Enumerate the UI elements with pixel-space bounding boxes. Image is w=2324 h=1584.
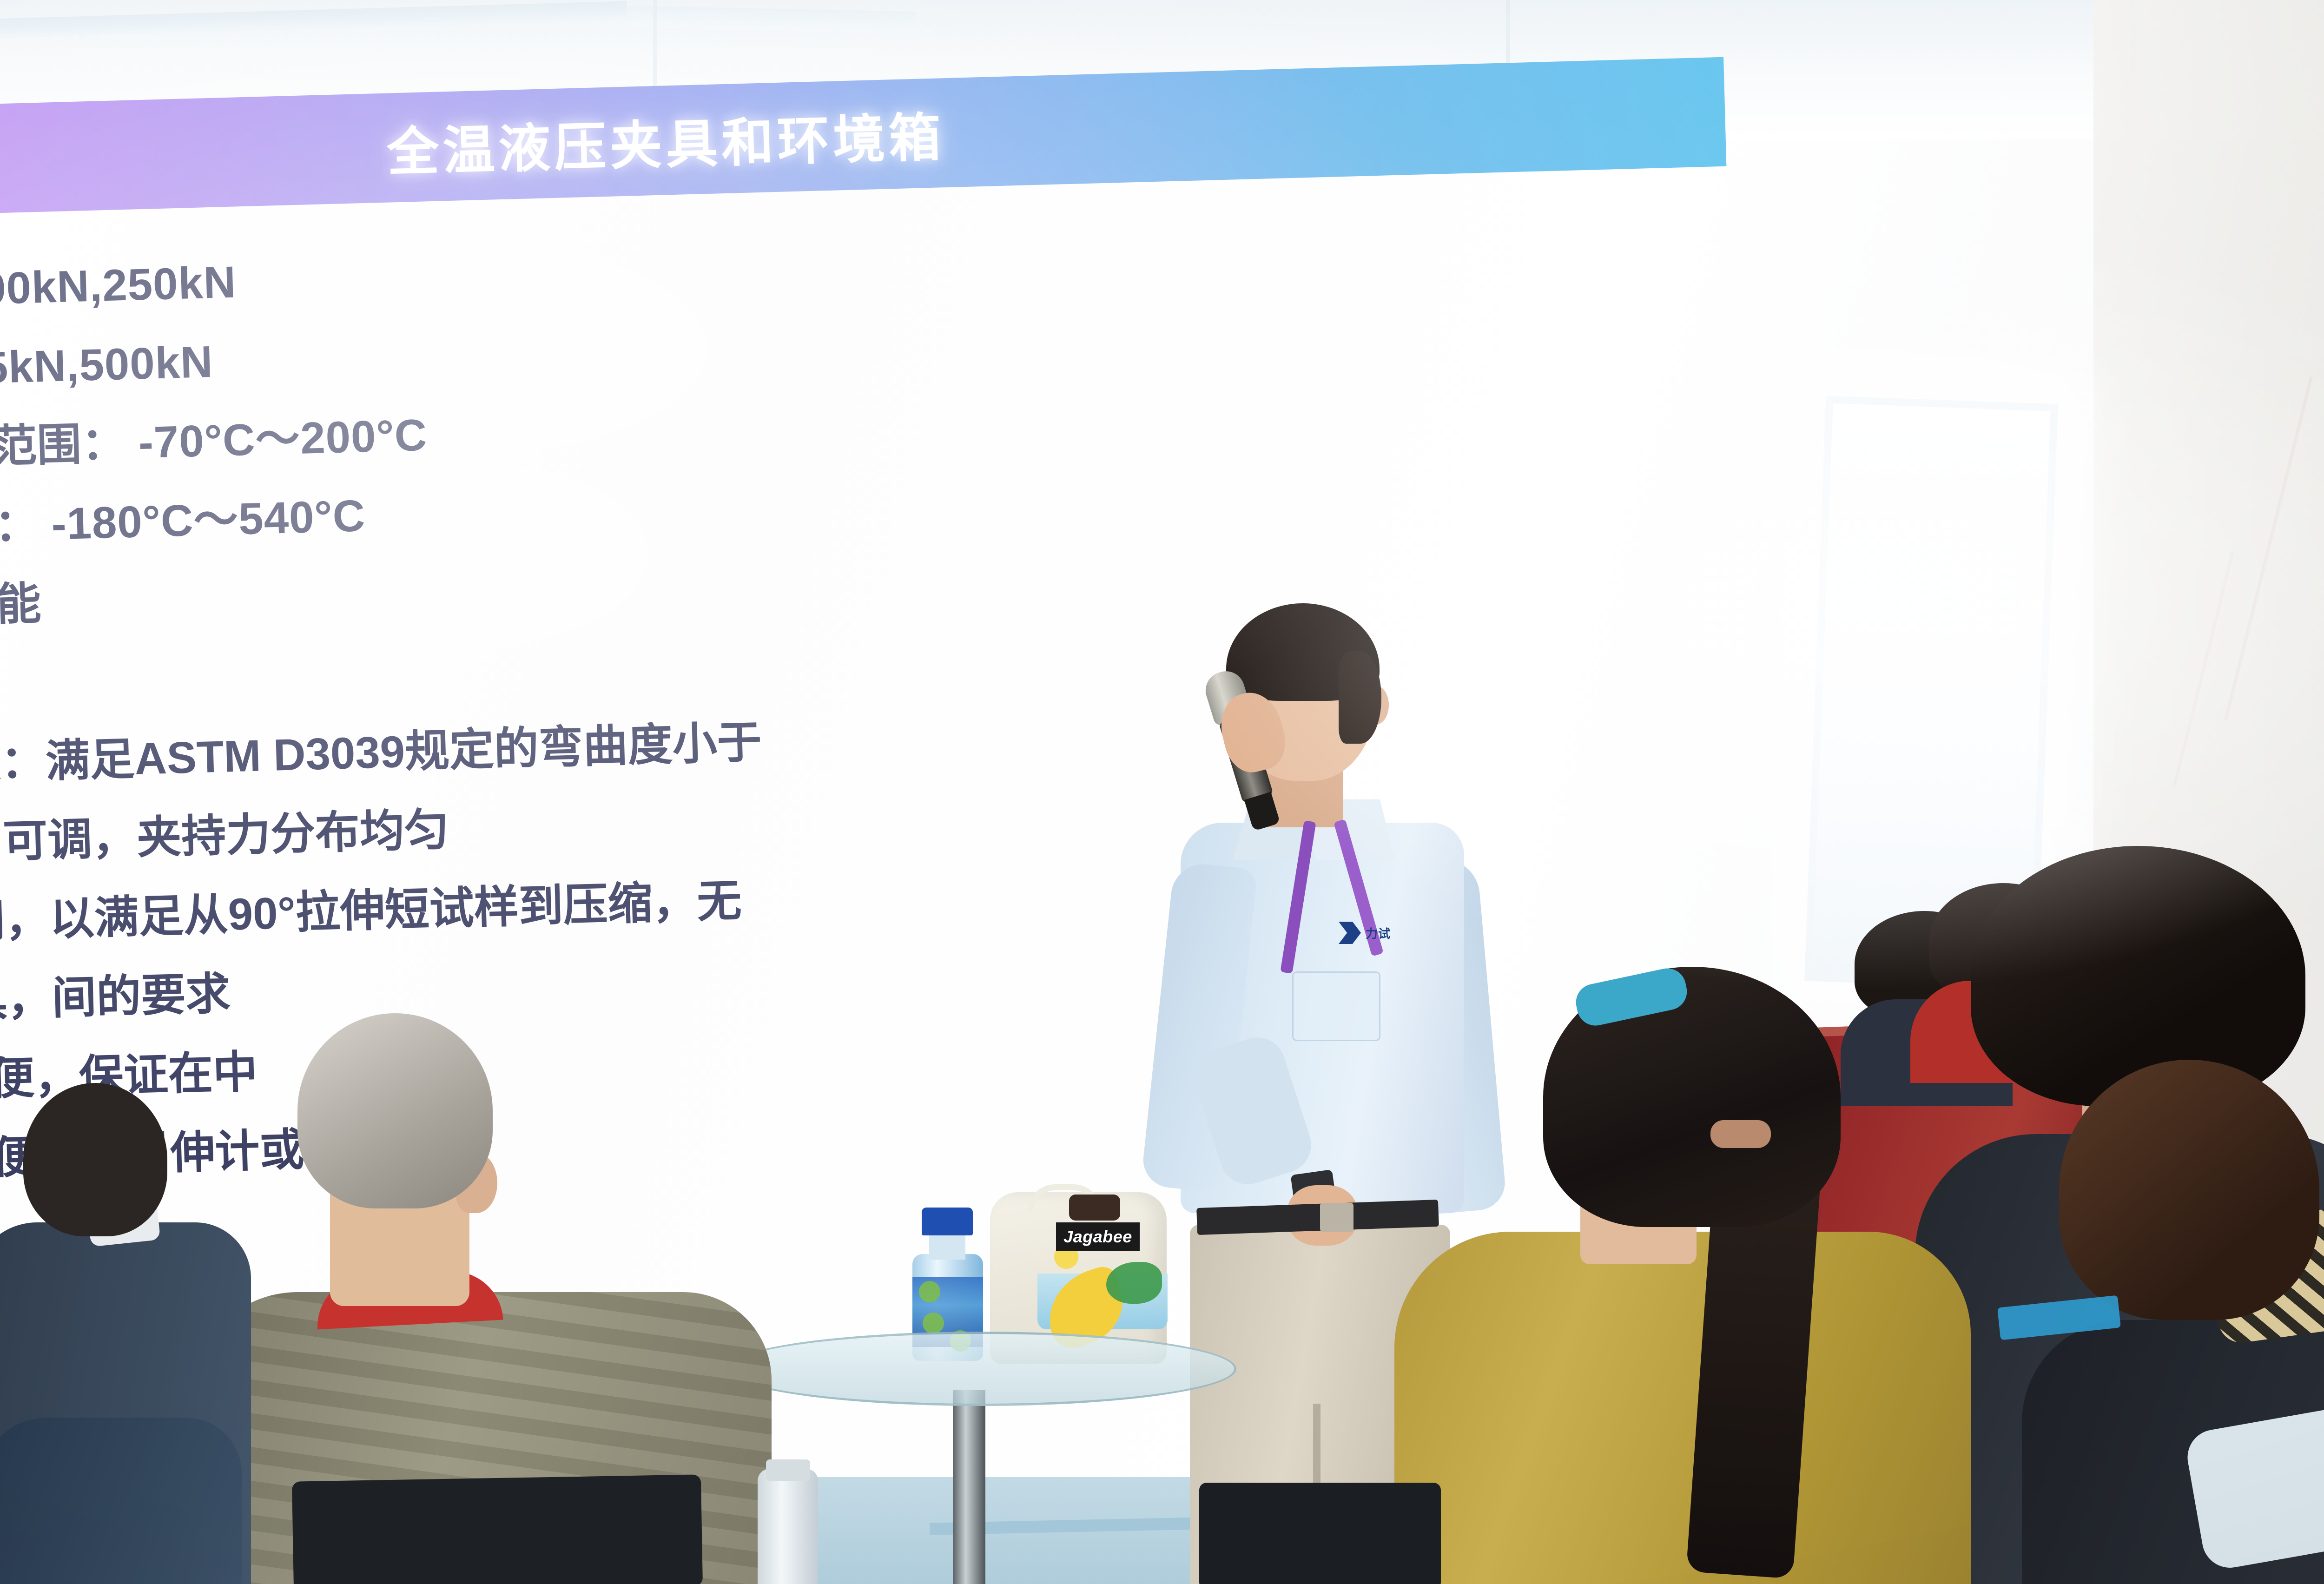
audience-right-mask <box>2194 1390 2324 1584</box>
company-logo-icon <box>1339 922 1361 944</box>
slide-bullet-model-b: 机型： 25kN,500kN <box>0 299 1717 395</box>
bullet-value: 25kN,500kN <box>0 337 214 394</box>
bullet-value: 100kN,250kN <box>0 257 237 315</box>
face-mask-icon <box>2183 1403 2324 1572</box>
slide-bullet-chamber-temp: 温度范围： -180°C～540°C <box>0 457 1722 553</box>
body <box>1394 1232 1971 1584</box>
snack-bag-brand-label: Jagabee <box>1056 1222 1140 1251</box>
glass-side-table <box>725 1332 1236 1406</box>
bottle-art-leaf <box>919 1281 940 1302</box>
bottle-neck <box>929 1232 965 1260</box>
bullet-label: 设备温度范围： <box>0 418 127 476</box>
presenter-hair-side <box>1339 651 1381 744</box>
presenter-shirt-logo: 力试 <box>1339 920 1425 945</box>
audience-mustard-woman <box>1427 967 1975 1584</box>
chair-back <box>292 1474 703 1584</box>
pillar-vein <box>2172 552 2234 787</box>
slide-title-text: 全温液压夹具和环境箱 <box>386 95 945 185</box>
hair-tie <box>1710 1120 1771 1148</box>
audience-bottom-left-person <box>0 1418 242 1584</box>
floor-water-bottle <box>758 1469 818 1584</box>
pillar-vein <box>2224 376 2313 720</box>
bullet-label: 展加湿功能 <box>0 579 42 634</box>
slide-bullet-equip-temp: 设备温度范围： -70°C～200°C <box>0 378 1719 474</box>
bullet-label: 试验空间，以满足从90°拉伸短试样到压缩，无 <box>0 876 742 950</box>
bullet-label: 夹持压力可调，夹持力分布均匀 <box>0 805 449 871</box>
bullet-value: -180°C～540°C <box>51 491 366 549</box>
presenter-badge <box>1292 971 1380 1041</box>
gray-hair <box>297 1013 493 1208</box>
chair-back <box>1199 1483 1441 1584</box>
floor-water-bottle-cap <box>766 1459 810 1481</box>
bullet-value: -70°C～200°C <box>138 410 428 468</box>
head <box>23 1083 167 1236</box>
bottle-cap <box>922 1208 973 1235</box>
table-stem <box>953 1390 985 1584</box>
bullet-label: 高同轴度：满足ASTM D3039规定的弯曲度小于 <box>0 717 762 792</box>
presenter-belt-buckle <box>1320 1203 1353 1232</box>
snack-bag-brand-text: Jagabee <box>1063 1227 1132 1247</box>
snack-bag-clip <box>1069 1195 1120 1221</box>
company-logo-text: 力试 <box>1366 924 1391 942</box>
bullet-label: 温度范围： <box>0 500 40 555</box>
body <box>0 1418 242 1584</box>
photo-scene: 全温液压夹具和环境箱 机型： 100kN,250kN 机型： 25kN,500k… <box>0 0 2324 1584</box>
bottle-art-leaf <box>923 1313 944 1334</box>
head <box>2059 1060 2319 1320</box>
